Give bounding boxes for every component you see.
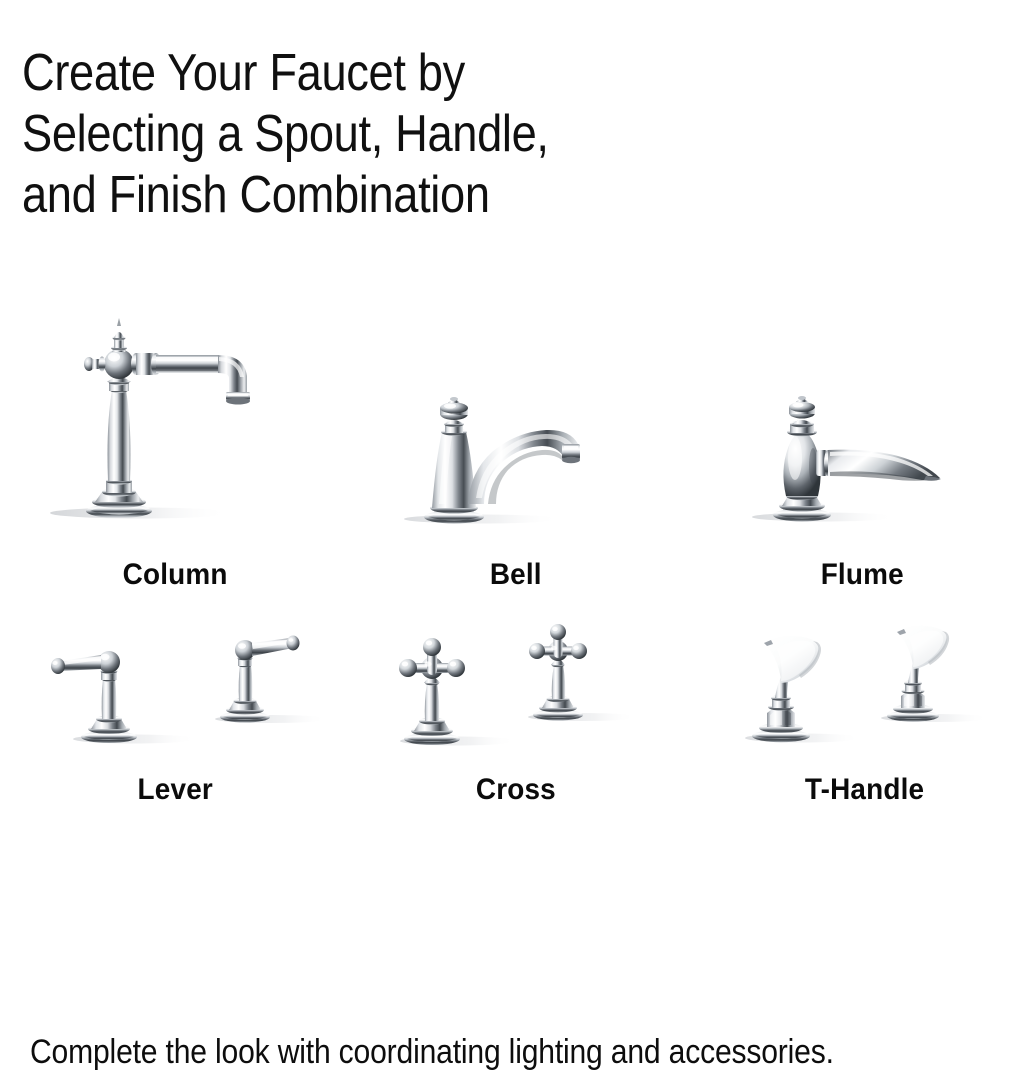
product-cell-bell[interactable]: Bell [343,262,686,592]
product-cell-t-handle[interactable]: T-Handle [685,592,1028,807]
product-label-lever: Lever [137,773,212,807]
product-label-flume: Flume [821,558,904,592]
faucet-handle-cross-pair-image [346,605,689,755]
page-title: Create Your Faucet by Selecting a Spout,… [22,43,805,226]
faucet-spout-bell-image [346,276,689,536]
faucet-spout-flume-image [691,276,1028,536]
product-label-bell: Bell [490,558,542,592]
spout-row: Column [0,262,1028,592]
product-label-t-handle: T-Handle [804,773,923,807]
product-cell-cross[interactable]: Cross [343,592,686,807]
footer-note: Complete the look with coordinating ligh… [30,1032,906,1072]
product-grid: Column [0,262,1028,807]
handle-row: Lever [0,592,1028,807]
product-cell-column[interactable]: Column [0,262,343,592]
product-label-cross: Cross [476,773,556,807]
faucet-spout-column-image [6,276,349,536]
product-cell-flume[interactable]: Flume [685,262,1028,592]
product-label-column: Column [123,558,228,592]
product-cell-lever[interactable]: Lever [0,592,343,807]
faucet-handle-t-pair-image [695,605,1028,755]
faucet-handle-lever-pair-image [6,605,349,755]
